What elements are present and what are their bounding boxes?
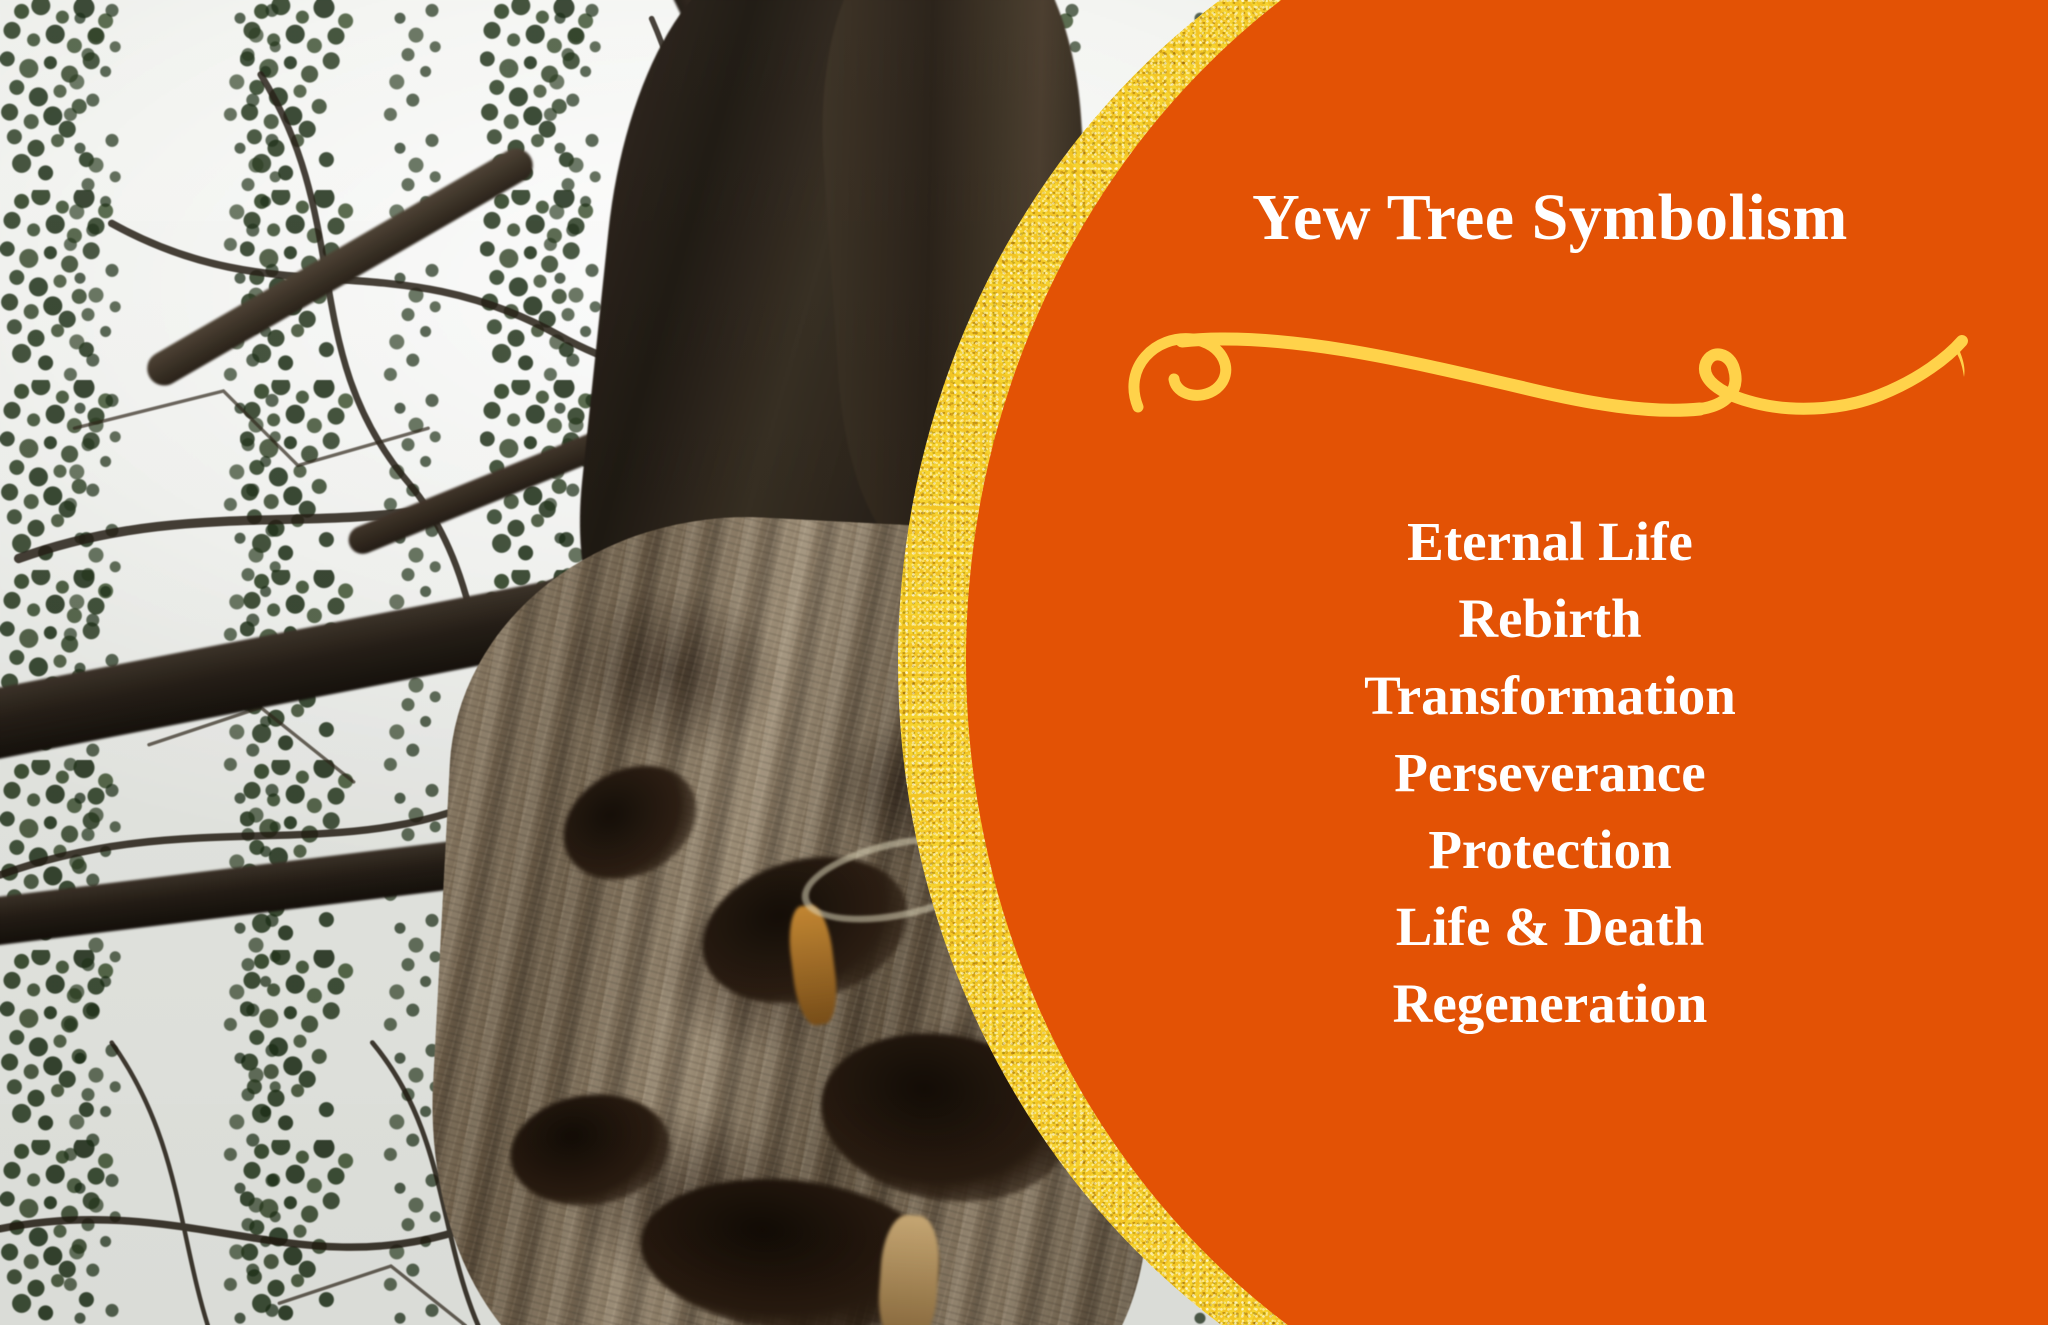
poster-canvas: Yew Tree Symbolism Eternal Life Rebirth … bbox=[0, 0, 2048, 1325]
symbol-item: Eternal Life bbox=[1407, 503, 1693, 580]
page-title: Yew Tree Symbolism bbox=[1252, 185, 1848, 251]
symbolism-panel: Yew Tree Symbolism Eternal Life Rebirth … bbox=[1110, 0, 1990, 1325]
symbol-item: Protection bbox=[1428, 811, 1671, 888]
symbol-item: Perseverance bbox=[1394, 734, 1705, 811]
symbolism-list: Eternal Life Rebirth Transformation Pers… bbox=[1110, 503, 1990, 1042]
symbol-item: Transformation bbox=[1364, 657, 1736, 734]
symbol-item: Regeneration bbox=[1393, 965, 1708, 1042]
flourish-swash-ornament bbox=[1120, 311, 1980, 431]
symbol-item: Life & Death bbox=[1396, 888, 1705, 965]
symbol-item: Rebirth bbox=[1458, 580, 1641, 657]
